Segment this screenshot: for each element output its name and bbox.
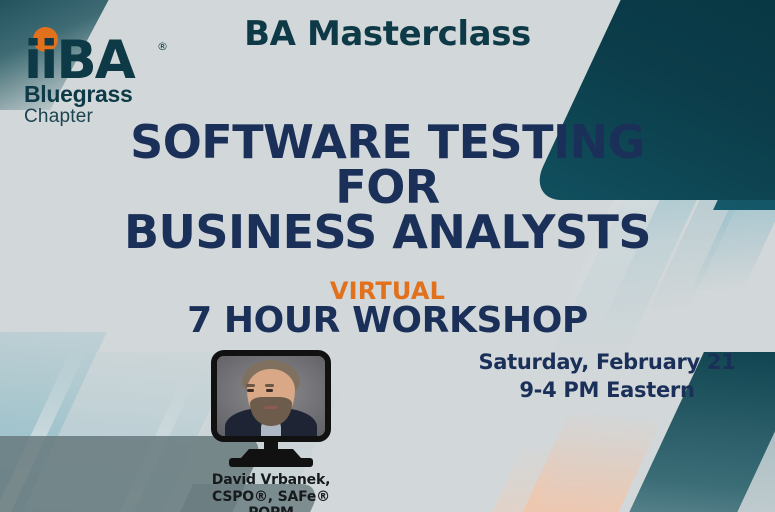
workshop-duration: 7 HOUR WORKSHOP bbox=[0, 300, 775, 341]
avatar-eye-right bbox=[266, 389, 273, 392]
bottom-right-orange-pale-band bbox=[404, 422, 579, 512]
monitor-icon bbox=[211, 350, 331, 467]
monitor-stand-base bbox=[229, 458, 313, 467]
avatar-mouth bbox=[265, 406, 278, 409]
headline-line-1: SOFTWARE TESTING bbox=[0, 120, 775, 165]
avatar-brow-left bbox=[246, 384, 255, 387]
event-poster: iiBA ® Bluegrass Chapter BA Masterclass … bbox=[0, 0, 775, 512]
bottom-left-highlight-a bbox=[0, 352, 86, 512]
bottom-right-orange-band bbox=[434, 402, 670, 512]
event-date: Saturday, February 21 bbox=[457, 348, 757, 376]
speaker-block: David Vrbanek, CSPO®, SAFe® POPM bbox=[196, 350, 346, 512]
event-time: 9-4 PM Eastern bbox=[457, 376, 757, 404]
bottom-left-band-a bbox=[0, 332, 107, 512]
headline-line-3: BUSINESS ANALYSTS bbox=[0, 210, 775, 255]
speaker-credentials: CSPO®, SAFe® POPM bbox=[196, 489, 346, 512]
event-schedule: Saturday, February 21 9-4 PM Eastern bbox=[457, 348, 757, 405]
headline-line-2: FOR bbox=[0, 165, 775, 210]
avatar bbox=[217, 356, 325, 436]
eyebrow-title: BA Masterclass bbox=[0, 14, 775, 54]
page-title: SOFTWARE TESTING FOR BUSINESS ANALYSTS bbox=[0, 120, 775, 255]
bottom-left-highlight-b bbox=[36, 382, 195, 512]
monitor-screen bbox=[211, 350, 331, 442]
avatar-eye-left bbox=[247, 389, 254, 392]
speaker-name: David Vrbanek, bbox=[196, 472, 346, 489]
avatar-brow-right bbox=[265, 384, 274, 387]
